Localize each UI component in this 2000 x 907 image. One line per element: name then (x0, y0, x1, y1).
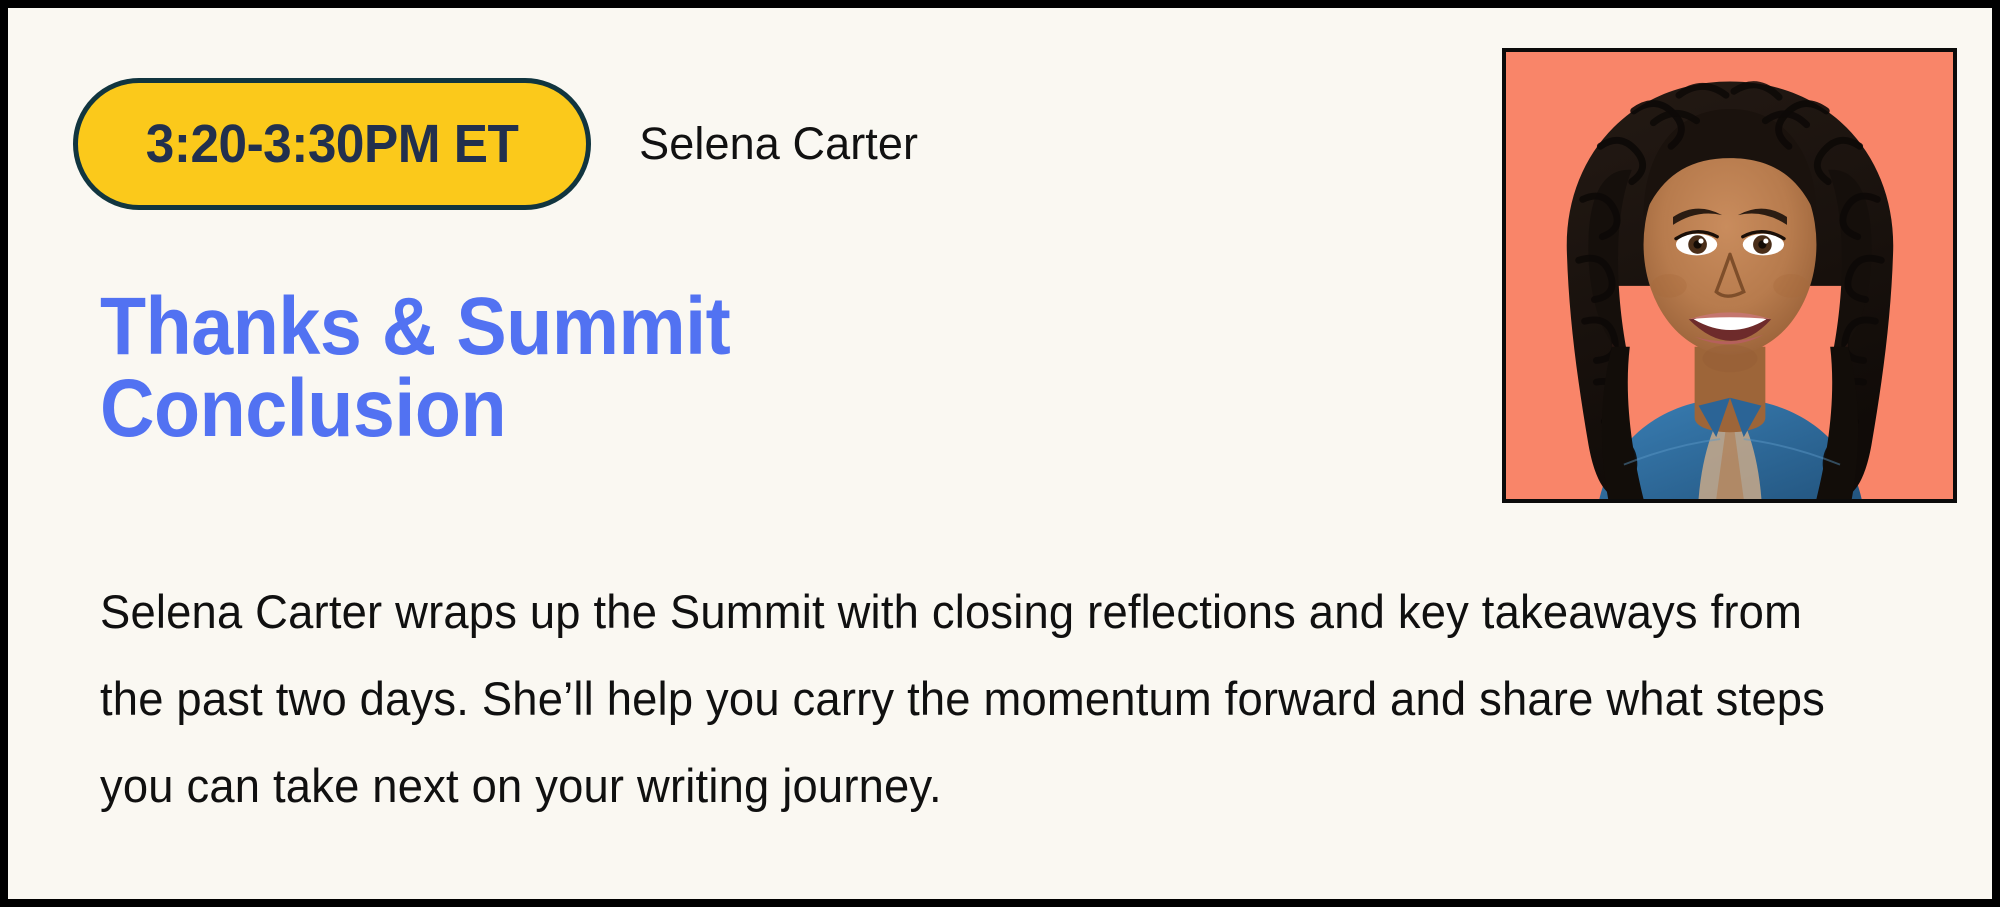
speaker-portrait-illustration (1506, 52, 1953, 499)
speaker-name: Selena Carter (639, 118, 918, 170)
session-time-label: 3:20-3:30PM ET (146, 113, 519, 175)
session-title: Thanks & Summit Conclusion (100, 286, 854, 450)
session-description: Selena Carter wraps up the Summit with c… (100, 568, 1866, 829)
session-time-badge[interactable]: 3:20-3:30PM ET (73, 78, 591, 210)
speaker-portrait (1502, 48, 1957, 503)
session-card: 3:20-3:30PM ET Selena Carter Thanks & Su… (0, 0, 2000, 907)
session-header: 3:20-3:30PM ET Selena Carter (73, 78, 918, 210)
